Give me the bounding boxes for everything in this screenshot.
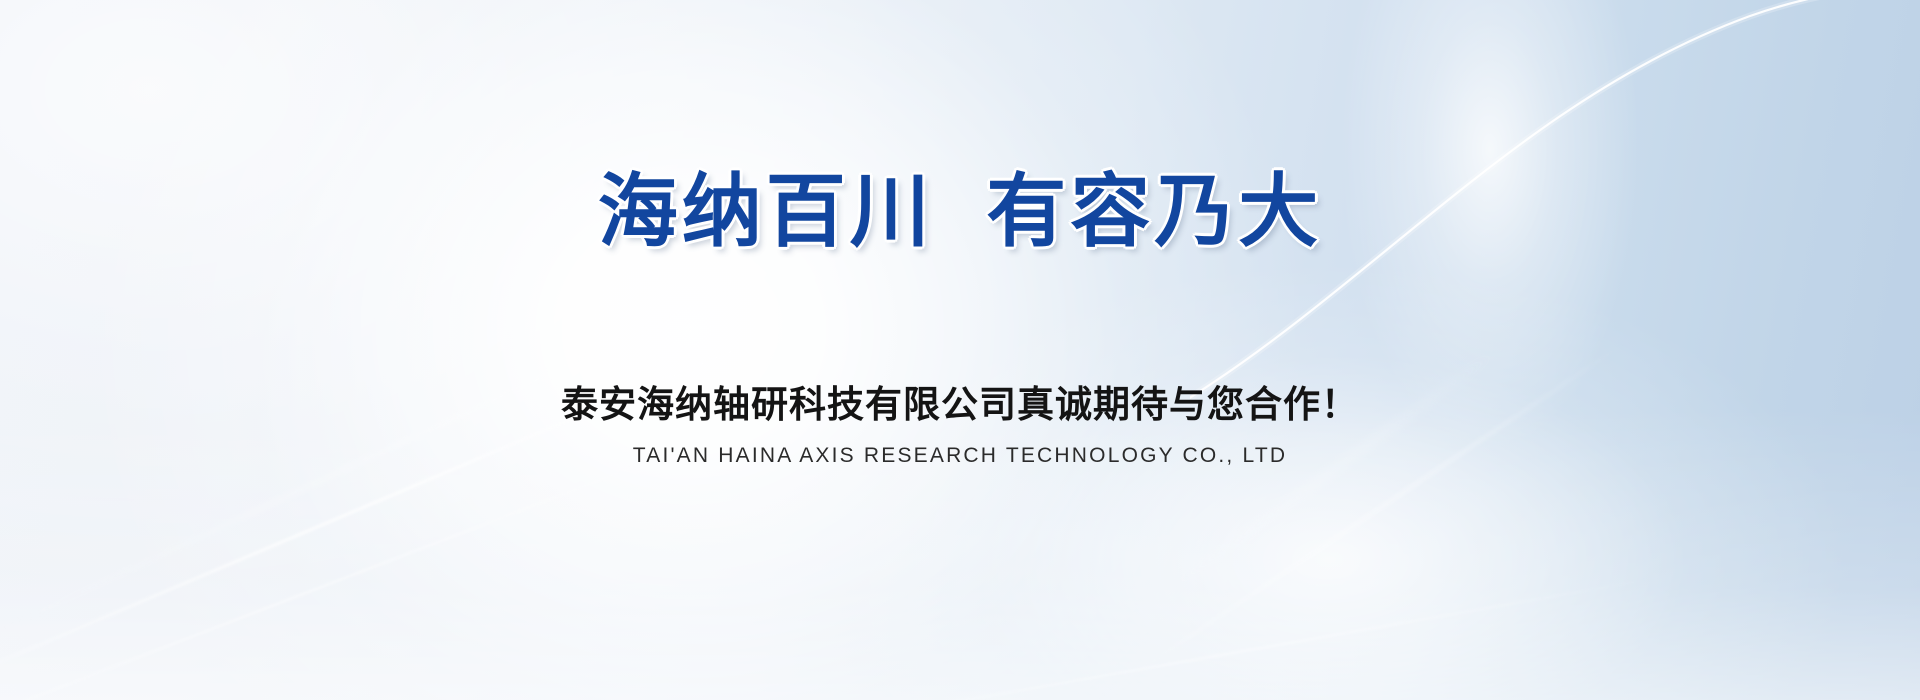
banner-headline: 海纳百川 有容乃大 xyxy=(0,168,1920,256)
banner-content: 海纳百川 有容乃大 泰安海纳轴研科技有限公司真诚期待与您合作！ TAI'AN H… xyxy=(0,0,1920,700)
hero-banner: 海纳百川 有容乃大 泰安海纳轴研科技有限公司真诚期待与您合作！ TAI'AN H… xyxy=(0,0,1920,700)
banner-subtitle-english: TAI'AN HAINA AXIS RESEARCH TECHNOLOGY CO… xyxy=(0,442,1920,469)
banner-subtitle-chinese: 泰安海纳轴研科技有限公司真诚期待与您合作！ xyxy=(0,382,1920,428)
